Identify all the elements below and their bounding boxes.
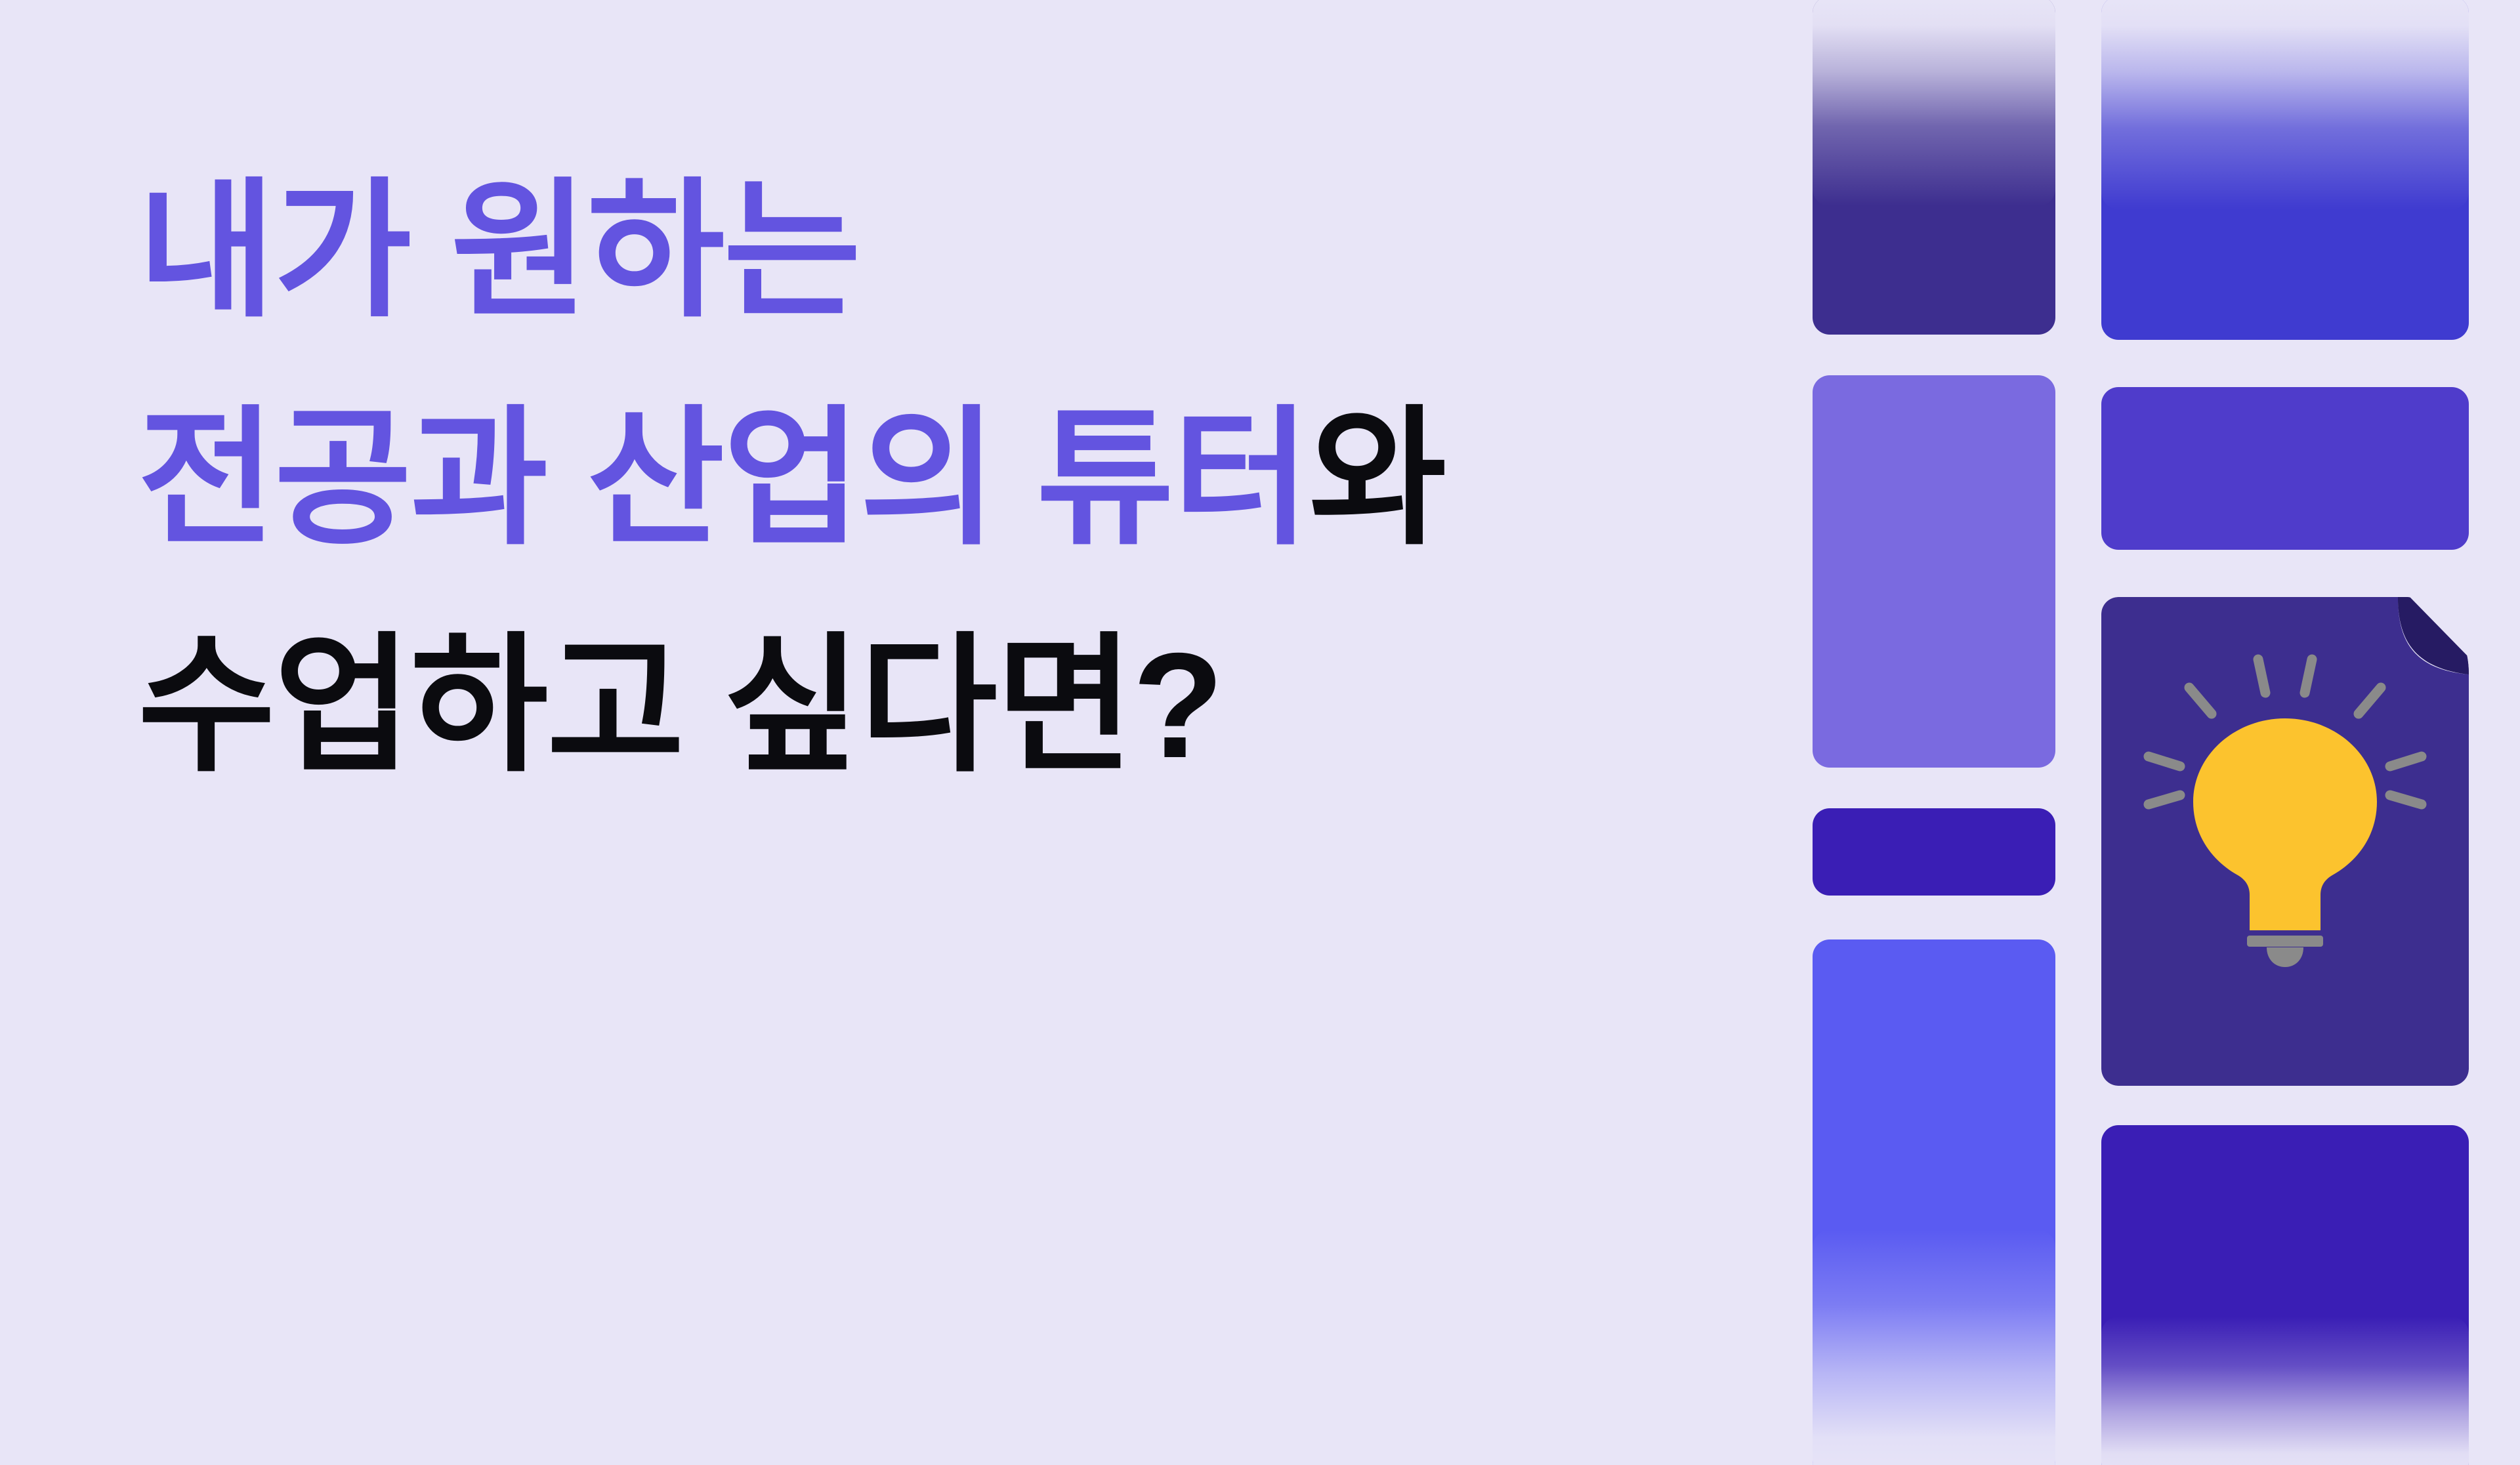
- block-bottom-right: [2101, 1125, 2469, 1465]
- headline: 내가 원하는 전공과 산업의 튜터와 수업하고 싶다면?: [138, 138, 1713, 820]
- headline-line-1: 내가 원하는: [138, 138, 1713, 365]
- lightbulb-card-svg: [2101, 597, 2469, 1086]
- block-top-right: [2101, 0, 2469, 340]
- headline-line-2-segment-1: 전공과 산업의 튜터: [138, 396, 1309, 562]
- block-bar-left: [1813, 808, 2055, 896]
- block-mid-left: [1813, 375, 2055, 768]
- headline-line-3-segment-1: 수업하고 싶다면?: [138, 623, 1223, 789]
- bulb-base-plate: [2247, 936, 2323, 947]
- decorative-block-collage: [1806, 0, 2520, 1465]
- block-top-left: [1813, 0, 2055, 335]
- headline-line-2-segment-2: 와: [1309, 396, 1446, 562]
- block-bottom-left: [1813, 939, 2055, 1465]
- lightbulb-card: [2101, 597, 2469, 1086]
- block-bar-right: [2101, 387, 2469, 550]
- headline-line-2: 전공과 산업의 튜터와: [138, 365, 1713, 593]
- headline-line-3: 수업하고 싶다면?: [138, 592, 1713, 820]
- headline-line-1-segment-1: 내가 원하는: [138, 168, 860, 335]
